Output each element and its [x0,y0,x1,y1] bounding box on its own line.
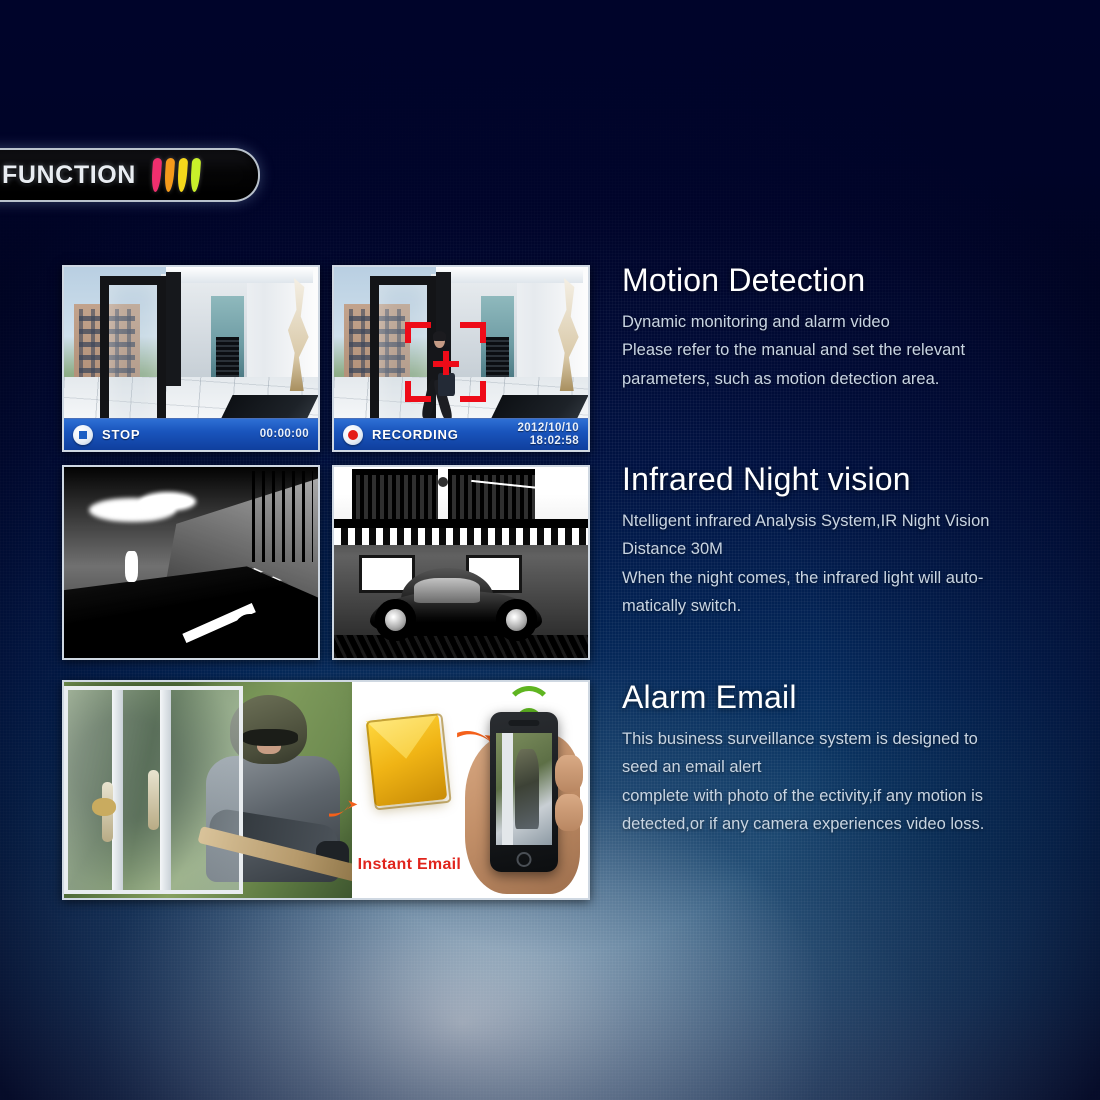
burglar-photo [64,682,352,898]
banner-bar-3 [177,158,188,192]
alarm-email-photo[interactable]: Instant Email [62,680,590,900]
motion-detect-reticle [405,322,486,403]
balcony-railing [352,469,438,519]
recording-player[interactable]: RECORDING 2012/10/10 18:02:58 [332,265,590,452]
motion-detection-line-1: Dynamic monitoring and alarm video [622,308,1092,336]
phone-camera-icon [508,720,539,726]
finger [555,794,583,831]
infrared-line-3: When the night comes, the infrared light… [622,564,1092,592]
finger [555,755,583,792]
cloud [140,492,196,511]
balcony-railing [448,469,534,519]
infrared-line-4: matically switch. [622,592,1092,620]
wall-panel [216,337,239,377]
section-infrared-night-vision: Infrared Night vision Ntelligent infrare… [622,461,1092,621]
stop-player[interactable]: STOP 00:00:00 [62,265,320,452]
stop-timer-area: 00:00:00 [260,428,309,440]
window-grille [252,471,313,563]
banner-bar-2 [164,158,175,192]
recording-timestamp-area: 2012/10/10 18:02:58 [517,422,579,446]
night-car-photo[interactable] [332,465,590,660]
email-transfer-graphic: Instant Email [352,682,462,898]
glass-door [100,276,166,437]
street-lamp [438,477,448,487]
banner-bar-4 [190,158,201,192]
function-banner: FUNCTION [0,148,260,202]
alarm-email-heading: Alarm Email [622,679,1092,716]
arrow-in-icon [328,790,379,829]
recording-date: 2012/10/10 [517,422,579,434]
night-alley-photo[interactable] [62,465,320,660]
night-alley-scene [64,467,318,658]
night-car-scene [334,467,588,658]
infrared-line-2: Distance 30M [622,535,1092,563]
alarm-email-line-1: This business surveillance system is des… [622,725,1092,753]
parked-car [370,568,543,641]
infrared-night-vision-heading: Infrared Night vision [622,461,1092,498]
door-frame [166,272,181,385]
motion-detection-line-3: parameters, such as motion detection are… [622,365,1092,393]
infrared-line-1: Ntelligent infrared Analysis System,IR N… [622,507,1092,535]
stop-icon [73,425,93,445]
alarm-email-body: This business surveillance system is des… [622,725,1092,839]
stop-status-bar: STOP 00:00:00 [64,418,318,450]
alarm-email-scene: Instant Email [64,682,588,898]
section-motion-detection: Motion Detection Dynamic monitoring and … [622,262,1092,393]
record-icon [343,425,363,445]
phone-alert-graphic [462,682,588,898]
stop-status-label: STOP [102,427,140,442]
function-banner-bars [152,158,200,192]
motion-detection-heading: Motion Detection [622,262,1092,299]
section-alarm-email: Alarm Email This business surveillance s… [622,679,1092,839]
ceiling [436,267,583,283]
recording-status-label: RECORDING [372,427,459,442]
glass-door [64,686,243,893]
bicycle [234,591,310,648]
banner-bar-1 [151,158,162,192]
motion-detection-body: Dynamic monitoring and alarm video Pleas… [622,308,1092,393]
distant-figure [125,551,138,582]
motion-detection-line-2: Please refer to the manual and set the r… [622,336,1092,364]
recording-status-bar: RECORDING 2012/10/10 18:02:58 [334,418,588,450]
infrared-night-vision-body: Ntelligent infrared Analysis System,IR N… [622,507,1092,621]
recording-time: 18:02:58 [517,435,579,447]
door-keys [92,798,116,816]
alarm-composite: Instant Email [64,682,588,898]
phone-screen [496,733,552,845]
function-banner-label: FUNCTION [2,161,136,190]
facade-ledge [334,519,588,529]
stop-timer: 00:00:00 [260,428,309,440]
alarm-email-line-2: seed an email alert [622,753,1092,781]
email-envelope-icon [365,713,446,807]
smartphone [490,712,558,872]
alarm-email-line-3: complete with photo of the ectivity,if a… [622,782,1092,810]
wall-panel [486,337,509,377]
phone-home-button [516,852,531,867]
alarm-email-line-4: detected,or if any camera experiences vi… [622,810,1092,838]
striped-awning [334,528,588,545]
ceiling [166,267,313,283]
instant-email-label: Instant Email [346,856,474,874]
